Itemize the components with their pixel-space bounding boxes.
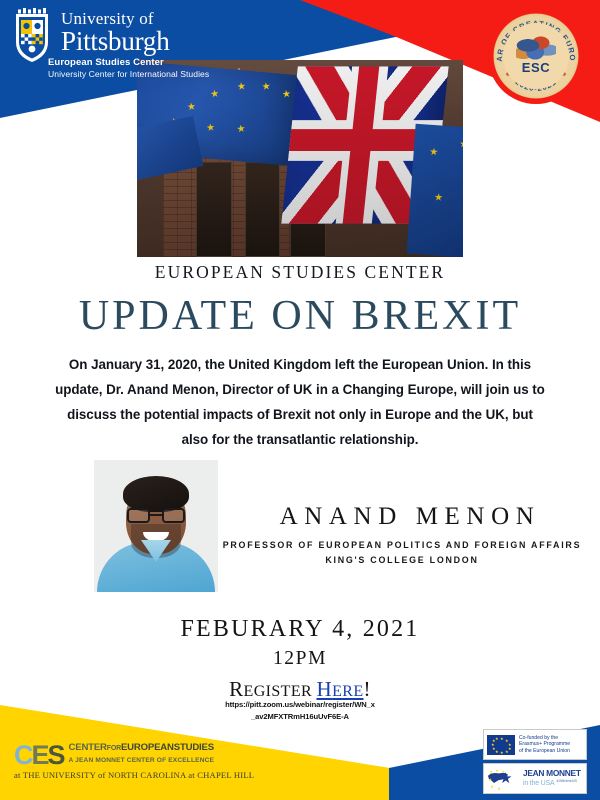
register-suffix: ! xyxy=(364,677,371,701)
flags-photo: ★ ★ ★ ★ ★ ★ ★ ★ ★ ★ ★ ★ ★ xyxy=(137,60,463,257)
ces-tagline: at THE UNIVERSITY of NORTH CAROLINA at C… xyxy=(14,770,254,780)
register-url-line-2: _av2MFXTRmH16uUvF6E-A xyxy=(0,711,600,723)
esc-acronym: ESC xyxy=(522,61,551,75)
kicker-text: EUROPEAN STUDIES CENTER xyxy=(0,262,600,283)
event-description: On January 31, 2020, the United Kingdom … xyxy=(52,352,548,452)
register-link-first: H xyxy=(317,677,333,701)
speaker-portrait xyxy=(94,460,218,592)
ces-word-europeanstudies: EUROPEANSTUDIES xyxy=(121,742,214,753)
jean-monnet-subtitle: in the USA xyxy=(523,780,554,787)
portrait-hair xyxy=(123,476,189,512)
event-time: 12PM xyxy=(0,648,600,670)
funding-badges: ★ ★ ★ ★ ★ ★ ★ ★ ★ ★ ★ Co-funded by the E… xyxy=(483,729,587,797)
jean-monnet-badge: ★ ★★ ★★ ★★ JEAN MONNET in the USA#JMinth… xyxy=(483,763,587,794)
pitt-shield-icon xyxy=(12,8,52,64)
register-word: EGISTER xyxy=(244,683,317,700)
ces-word-for: FOR xyxy=(107,745,121,752)
speaker-name: ANAND MENON xyxy=(240,503,580,531)
portrait-glasses-icon xyxy=(127,508,185,523)
ces-letter-s: S xyxy=(48,740,64,770)
erasmus-badge: ★ ★ ★ ★ ★ ★ ★ ★ ★ ★ ★ Co-funded by the E… xyxy=(483,729,587,760)
event-date: FEBURARY 4, 2021 xyxy=(0,616,600,643)
ces-letter-c: C xyxy=(14,740,32,770)
speaker-affiliation: KING'S COLLEGE LONDON xyxy=(216,553,588,568)
esc-seal-center: ESC xyxy=(503,23,569,89)
register-url-line-1: https://pitt.zoom.us/webinar/register/WN… xyxy=(0,699,600,711)
speaker-credentials: PROFESSOR OF EUROPEAN POLITICS AND FOREI… xyxy=(216,538,588,568)
speaker-role: PROFESSOR OF EUROPEAN POLITICS AND FOREI… xyxy=(216,538,588,553)
photo-vignette xyxy=(137,60,463,257)
pitt-subtitle-block: European Studies Center University Cente… xyxy=(48,57,209,80)
ucis-label: University Center for International Stud… xyxy=(48,69,209,80)
erasmus-line-2: Erasmus+ Programme xyxy=(519,741,570,748)
ces-word-center: CENTER xyxy=(69,742,107,753)
register-here-link[interactable]: HERE xyxy=(317,677,364,701)
europe-map-icon xyxy=(516,35,556,61)
jean-monnet-hashtag: #JMintheUS xyxy=(556,777,577,785)
erasmus-line-3: of the European Union xyxy=(519,748,570,755)
european-studies-center-label: European Studies Center xyxy=(48,57,209,69)
erasmus-badge-text: Co-funded by the Erasmus+ Programme of t… xyxy=(519,735,570,755)
ces-full-name: CENTERFOREUROPEANSTUDIES xyxy=(69,743,215,754)
register-url[interactable]: https://pitt.zoom.us/webinar/register/WN… xyxy=(0,699,600,722)
erasmus-line-1: Co-funded by the xyxy=(519,735,570,742)
esc-seal-logo: YEAR OF CREATING EUROPE 2020-2021 ESC xyxy=(488,8,584,104)
ces-subtitle: A JEAN MONNET CENTER OF EXCELLENCE xyxy=(69,756,215,766)
jean-monnet-text: JEAN MONNET in the USA#JMintheUS xyxy=(523,769,581,788)
register-prefix: R xyxy=(229,677,243,701)
eu-stars-decoration: ★★ ★★ ★★ xyxy=(487,768,519,790)
eu-flag-icon: ★ ★ ★ ★ ★ ★ ★ ★ ★ ★ ★ xyxy=(487,735,515,755)
jean-monnet-title: JEAN MONNET xyxy=(523,769,581,777)
ces-letter-e: E xyxy=(32,740,48,770)
pitt-wordmark: University of Pittsburgh xyxy=(61,8,170,55)
register-link-rest: ERE xyxy=(332,683,363,700)
pitt-university-line: University of xyxy=(61,10,170,27)
pitt-logo: University of Pittsburgh xyxy=(12,8,170,64)
pitt-pittsburgh-line: Pittsburgh xyxy=(61,27,170,55)
ces-monogram: CES xyxy=(14,742,64,768)
ces-logo: CES CENTERFOREUROPEANSTUDIES A JEAN MONN… xyxy=(14,742,214,768)
jean-monnet-icon: ★ ★★ ★★ ★★ xyxy=(487,768,519,790)
page-title: UPDATE ON BREXIT xyxy=(0,293,600,339)
ces-wordmark: CENTERFOREUROPEANSTUDIES A JEAN MONNET C… xyxy=(69,743,215,768)
